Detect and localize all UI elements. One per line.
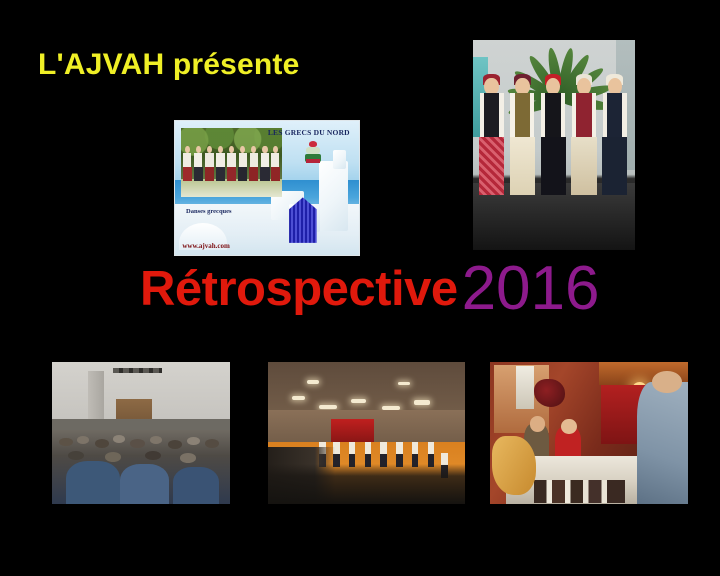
dancer xyxy=(428,442,435,468)
title-year: 2016 xyxy=(462,258,600,320)
costumed-person xyxy=(539,78,567,196)
poster-headline: LES GRECS DU NORD xyxy=(268,128,350,137)
hanging-sign xyxy=(516,366,534,409)
mini-dancer xyxy=(227,146,236,181)
red-banner xyxy=(331,419,374,442)
costumed-person xyxy=(478,78,506,196)
visitor-head xyxy=(530,416,546,432)
association-logo-icon xyxy=(304,141,322,163)
stall-vendor xyxy=(637,382,688,504)
photo-market-stall xyxy=(490,362,688,504)
ceiling-lights xyxy=(113,368,163,374)
photo-audience-hall xyxy=(52,362,230,504)
photo-dance-hall xyxy=(268,362,465,504)
poster-building-tall xyxy=(319,161,348,231)
mini-dancer xyxy=(205,146,214,181)
display-goods xyxy=(534,480,625,503)
poster-inset-caption: Danses grecques xyxy=(186,208,232,215)
mini-dancer xyxy=(238,146,247,181)
poster-building-chimney xyxy=(333,150,346,169)
foreground-attendee xyxy=(173,467,219,504)
slide-canvas: L'AJVAH présente Danses grecques LES GRE… xyxy=(0,0,720,576)
mini-dancer xyxy=(216,146,225,181)
costumed-person xyxy=(509,78,537,196)
dancer xyxy=(380,442,387,468)
dancer xyxy=(365,442,372,468)
foreground-attendee xyxy=(120,464,170,504)
title-word-retrospective: Rétrospective xyxy=(140,265,458,314)
main-title: Rétrospective 2016 xyxy=(140,254,600,316)
presenter-title: L'AJVAH présente xyxy=(38,48,300,81)
photo-costume-group xyxy=(473,40,635,250)
stall-vendor-head xyxy=(652,371,682,394)
mini-dancer xyxy=(183,146,192,181)
costumed-person xyxy=(601,78,629,196)
bread-basket xyxy=(492,436,536,496)
mini-dancer xyxy=(260,146,269,181)
audience-foreground xyxy=(268,464,465,504)
poster-photo-inset xyxy=(181,128,282,198)
poster-flyer: Danses grecques LES GRECS DU NORD www.aj… xyxy=(174,120,360,256)
inset-ground xyxy=(181,179,282,197)
costumed-person xyxy=(570,78,598,196)
poster-website-url[interactable]: www.ajvah.com xyxy=(182,242,229,250)
mini-dancer xyxy=(271,146,280,181)
dancer xyxy=(396,442,403,468)
foreground-attendee xyxy=(66,461,119,504)
dancer xyxy=(412,442,419,468)
mini-dancer xyxy=(194,146,203,181)
dancer xyxy=(349,442,356,468)
mini-dancer xyxy=(249,146,258,181)
